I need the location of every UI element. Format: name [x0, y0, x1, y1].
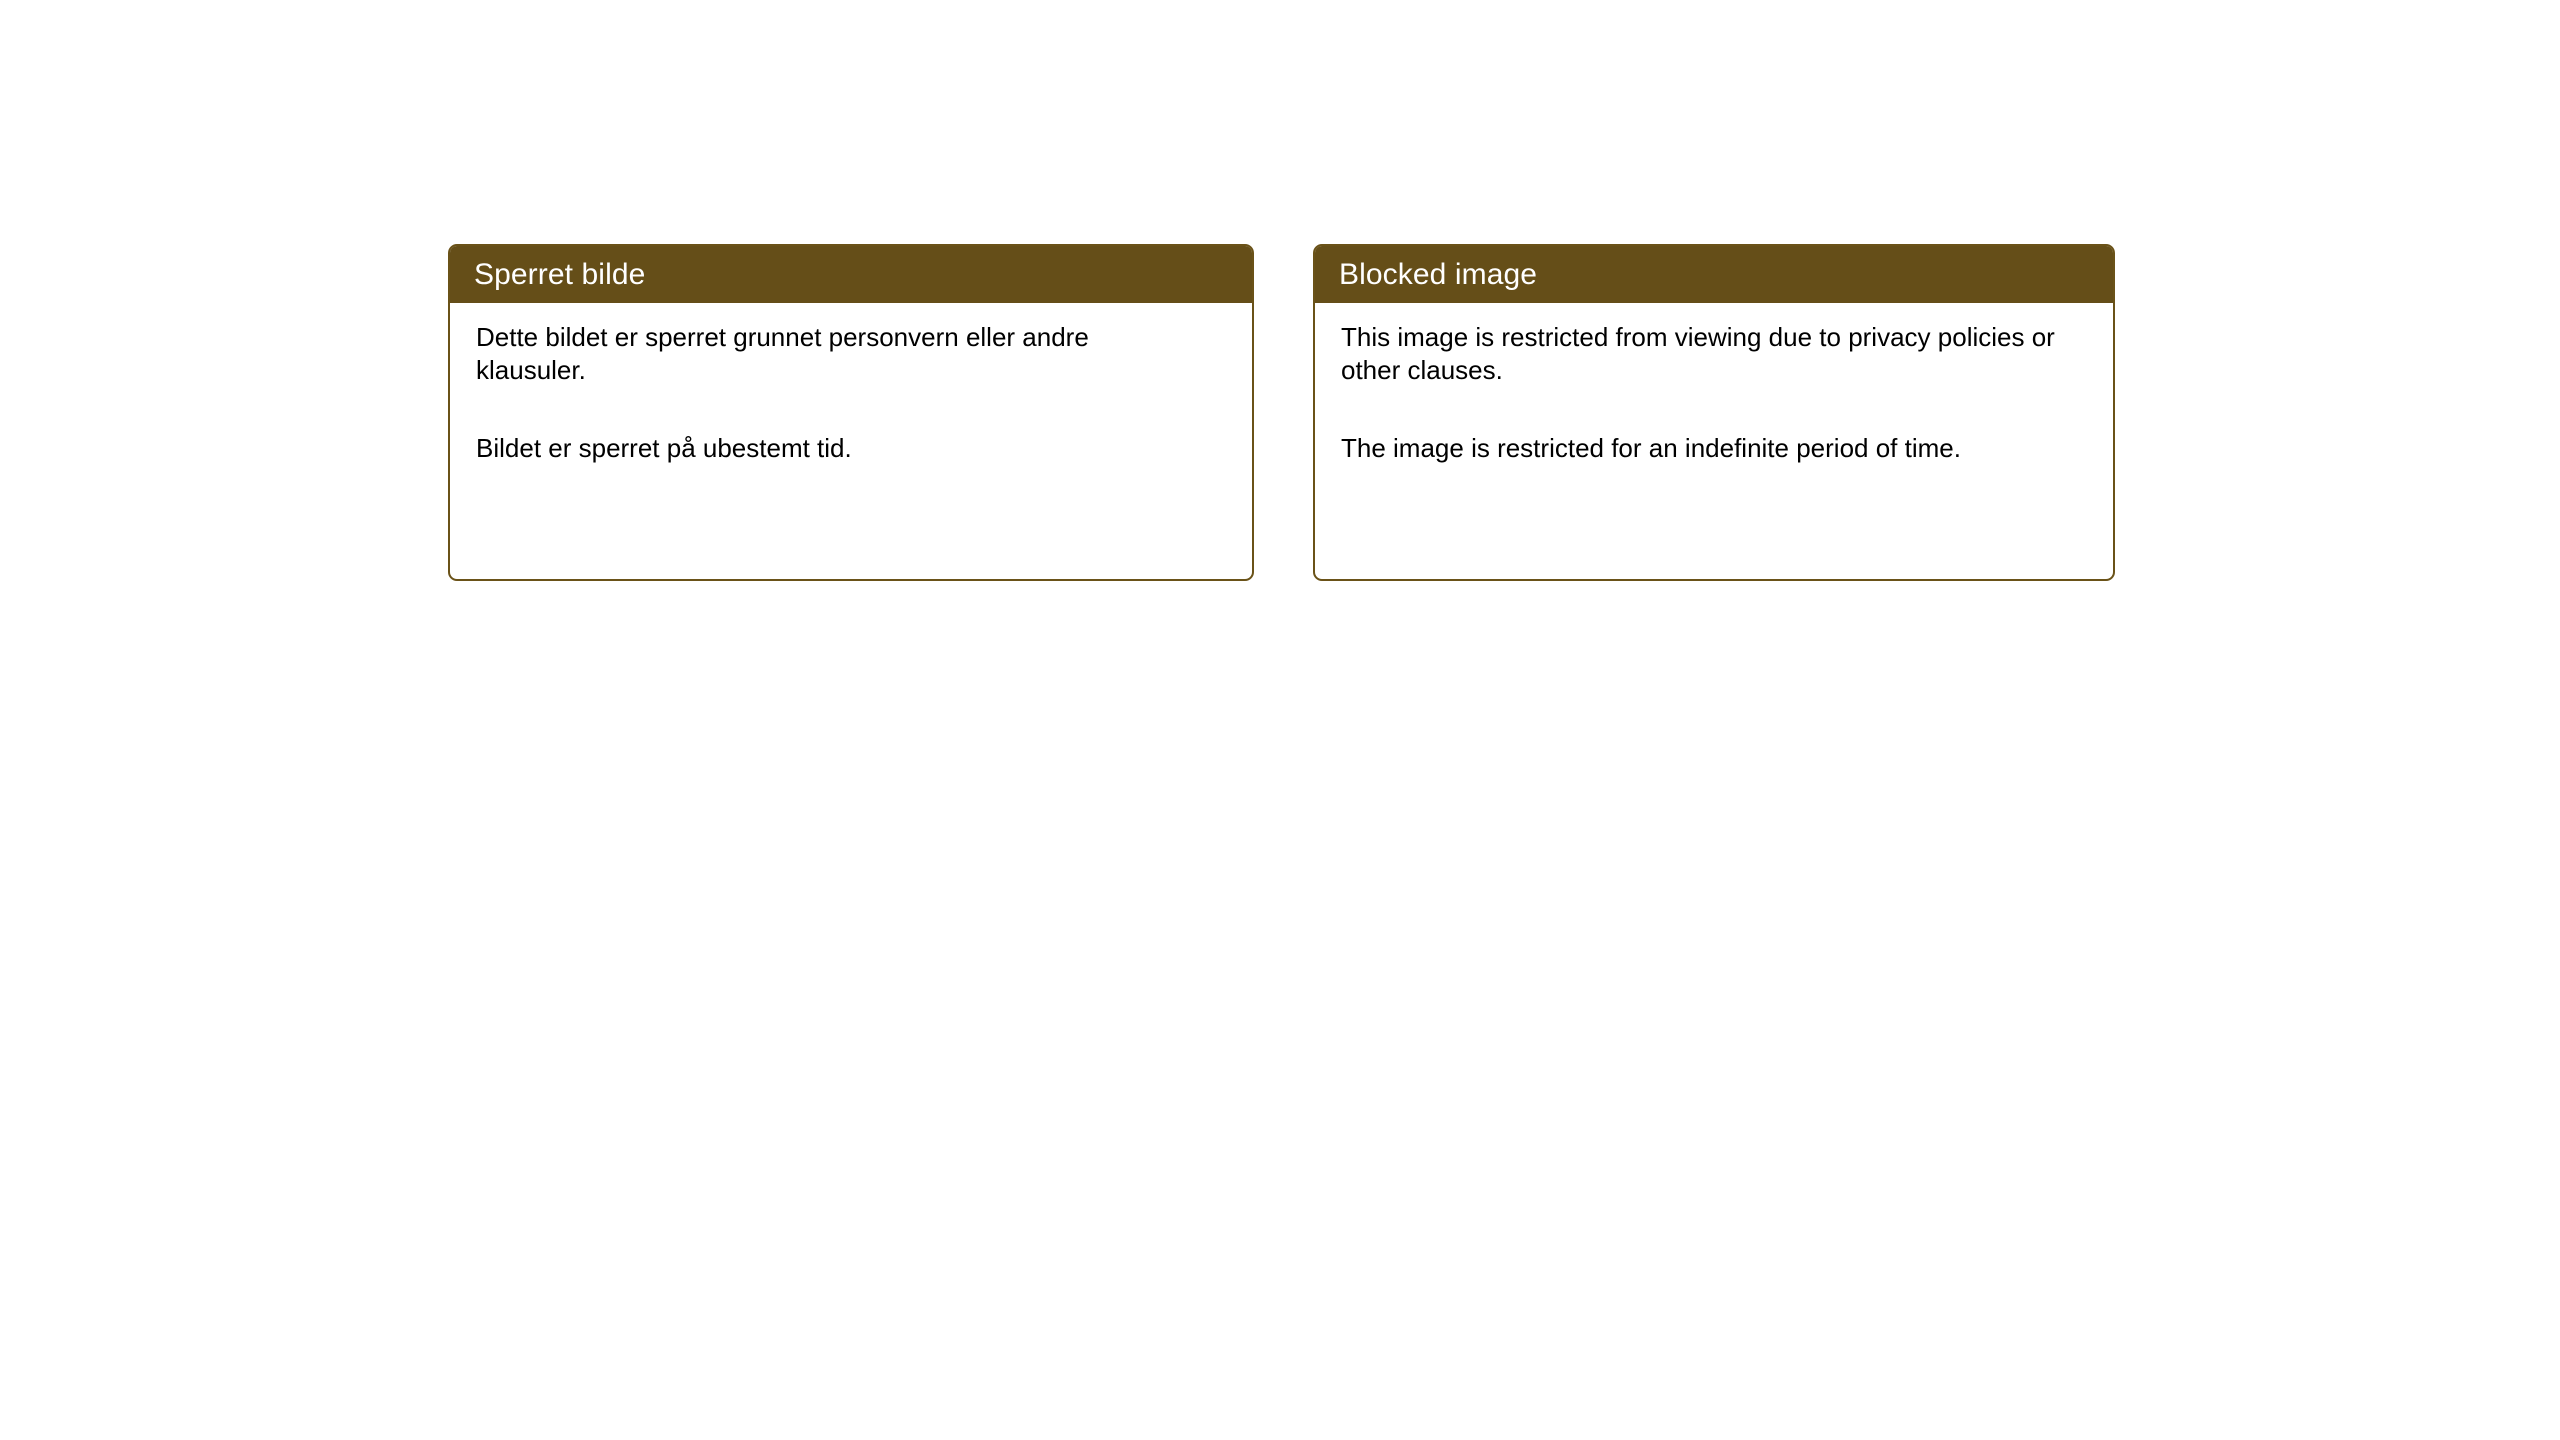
card-body-english: This image is restricted from viewing du…: [1315, 303, 2113, 485]
blocked-image-notice-card-norwegian: Sperret bilde Dette bildet er sperret gr…: [448, 244, 1254, 581]
card-header-norwegian: Sperret bilde: [450, 246, 1252, 303]
card-paragraph-reason-norwegian: Dette bildet er sperret grunnet personve…: [476, 321, 1196, 387]
card-header-title-norwegian: Sperret bilde: [474, 258, 645, 292]
card-paragraph-duration-norwegian: Bildet er sperret på ubestemt tid.: [476, 432, 1196, 465]
page-root: Sperret bilde Dette bildet er sperret gr…: [0, 0, 2560, 1440]
card-header-title-english: Blocked image: [1339, 258, 1537, 292]
card-paragraph-reason-english: This image is restricted from viewing du…: [1341, 321, 2061, 387]
card-paragraph-duration-english: The image is restricted for an indefinit…: [1341, 432, 2061, 465]
card-header-english: Blocked image: [1315, 246, 2113, 303]
card-body-norwegian: Dette bildet er sperret grunnet personve…: [450, 303, 1252, 485]
blocked-image-notice-card-english: Blocked image This image is restricted f…: [1313, 244, 2115, 581]
